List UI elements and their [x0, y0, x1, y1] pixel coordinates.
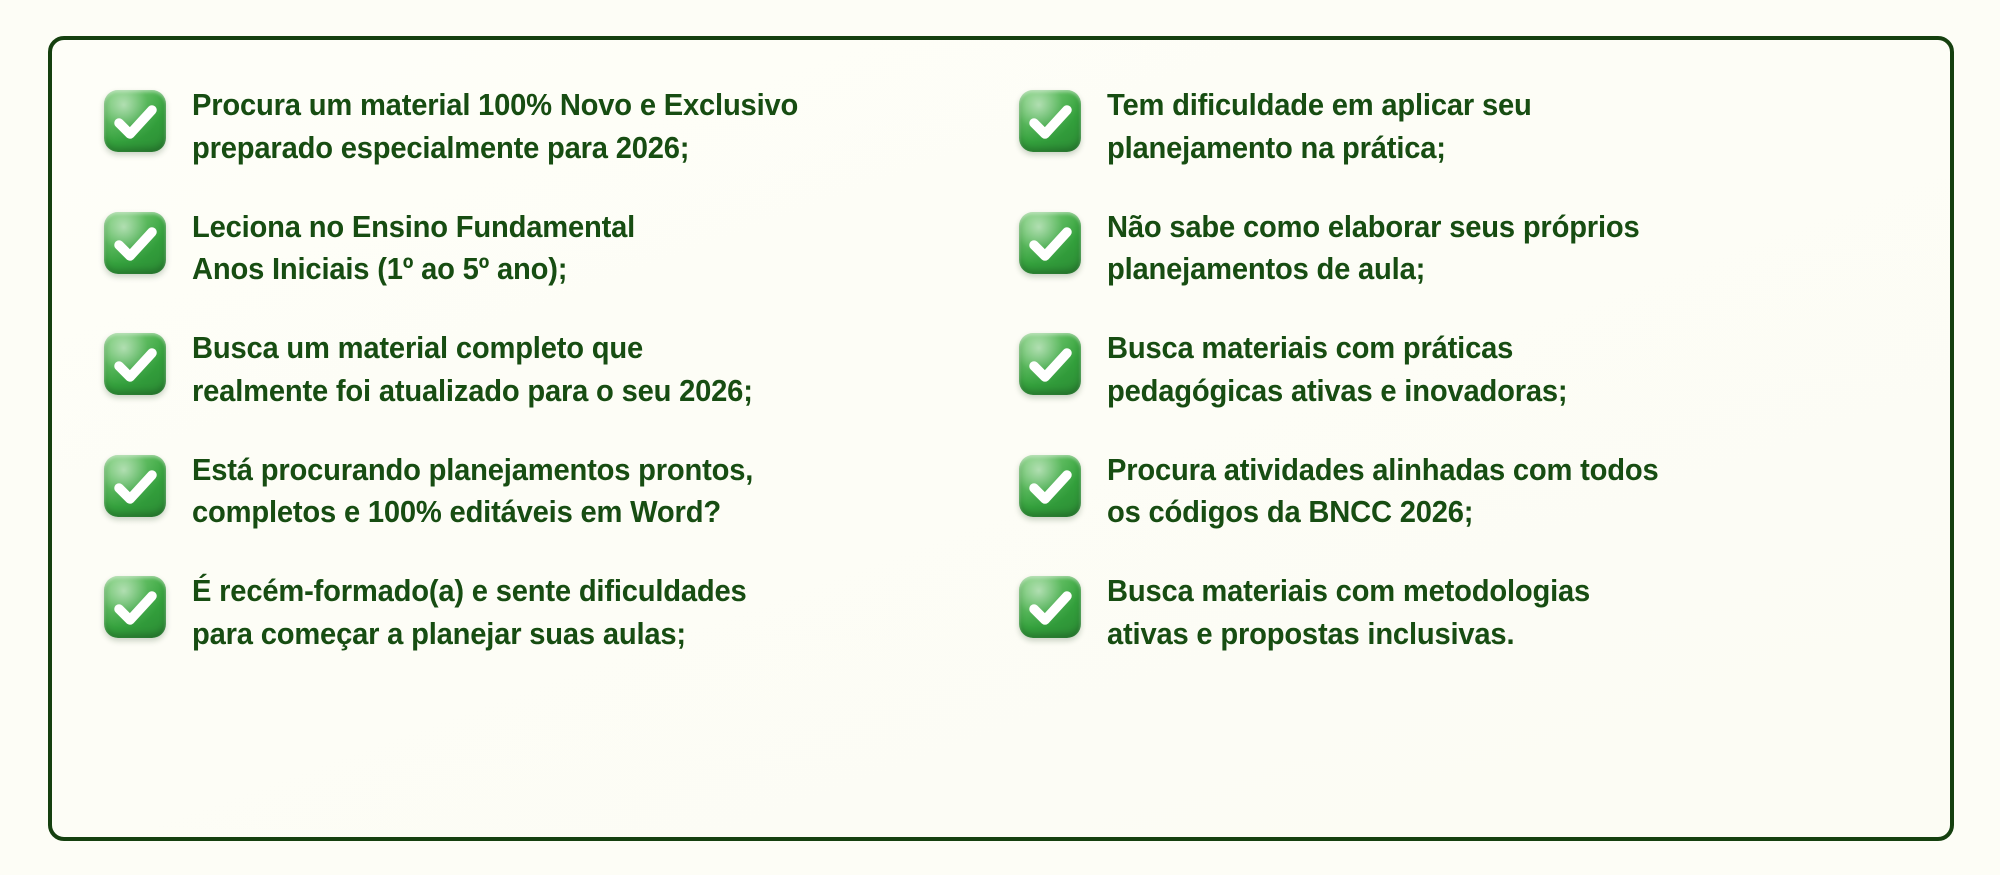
- list-item: Tem dificuldade em aplicar seu planejame…: [1019, 84, 1900, 170]
- list-item: Procura um material 100% Novo e Exclusiv…: [104, 84, 991, 170]
- check-mark-icon: [1019, 455, 1081, 517]
- checklist-left-column: Procura um material 100% Novo e Exclusiv…: [92, 84, 1001, 793]
- checklist-card: Procura um material 100% Novo e Exclusiv…: [48, 36, 1954, 841]
- check-mark-icon: [1019, 212, 1081, 274]
- list-item-label: Busca um material completo que realmente…: [192, 327, 753, 413]
- list-item: Está procurando planejamentos prontos, c…: [104, 449, 991, 535]
- list-item-label: Procura um material 100% Novo e Exclusiv…: [192, 84, 798, 170]
- list-item: Leciona no Ensino Fundamental Anos Inici…: [104, 206, 991, 292]
- list-item-label: Está procurando planejamentos prontos, c…: [192, 449, 753, 535]
- list-item-label: Leciona no Ensino Fundamental Anos Inici…: [192, 206, 635, 292]
- checklist-columns: Procura um material 100% Novo e Exclusiv…: [52, 40, 1950, 837]
- check-mark-icon: [1019, 576, 1081, 638]
- list-item-label: Não sabe como elaborar seus próprios pla…: [1107, 206, 1639, 292]
- check-mark-icon: [1019, 90, 1081, 152]
- list-item: Busca materiais com metodologias ativas …: [1019, 570, 1900, 656]
- check-mark-icon: [1019, 333, 1081, 395]
- list-item: Procura atividades alinhadas com todos o…: [1019, 449, 1900, 535]
- check-mark-icon: [104, 333, 166, 395]
- list-item-label: Tem dificuldade em aplicar seu planejame…: [1107, 84, 1532, 170]
- checklist-right-column: Tem dificuldade em aplicar seu planejame…: [1001, 84, 1910, 793]
- list-item-label: Busca materiais com metodologias ativas …: [1107, 570, 1590, 656]
- check-mark-icon: [104, 212, 166, 274]
- list-item-label: É recém-formado(a) e sente dificuldades …: [192, 570, 747, 656]
- list-item: Busca um material completo que realmente…: [104, 327, 991, 413]
- check-mark-icon: [104, 90, 166, 152]
- check-mark-icon: [104, 576, 166, 638]
- list-item-label: Busca materiais com práticas pedagógicas…: [1107, 327, 1567, 413]
- check-mark-icon: [104, 455, 166, 517]
- list-item-label: Procura atividades alinhadas com todos o…: [1107, 449, 1659, 535]
- screenshot-canvas: Procura um material 100% Novo e Exclusiv…: [0, 0, 2000, 875]
- list-item: É recém-formado(a) e sente dificuldades …: [104, 570, 991, 656]
- list-item: Não sabe como elaborar seus próprios pla…: [1019, 206, 1900, 292]
- list-item: Busca materiais com práticas pedagógicas…: [1019, 327, 1900, 413]
